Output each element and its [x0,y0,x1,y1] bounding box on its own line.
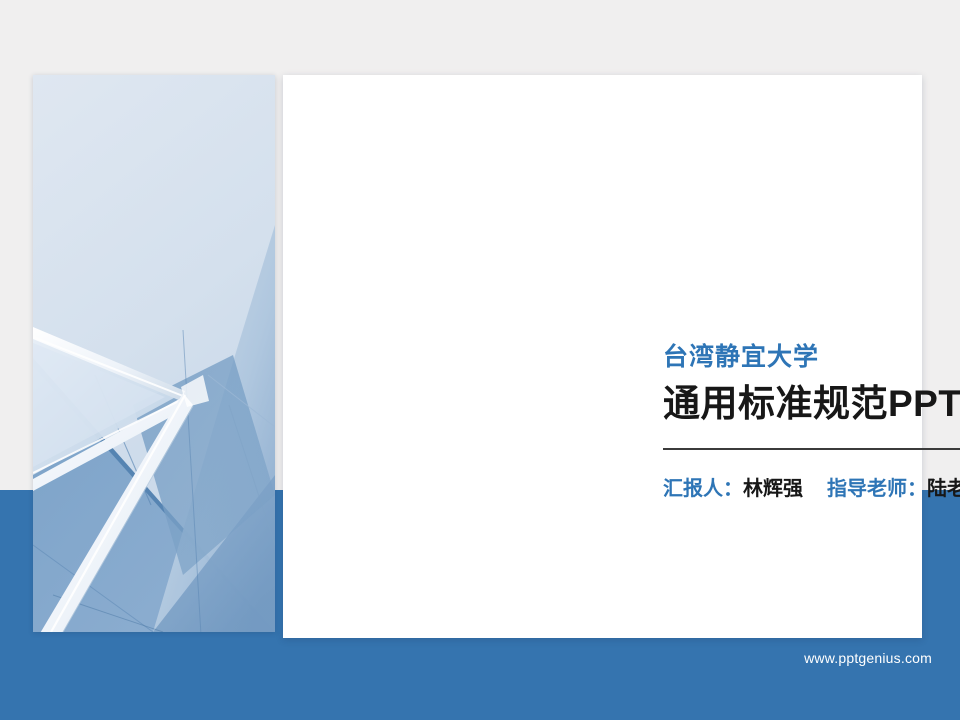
advisor-name: 陆老师 [927,478,960,500]
advisor-label: 指导老师： [827,478,927,500]
university-name-subtitle: 台湾静宜大学 [663,343,960,372]
footer-website-url: www.pptgenius.com [804,650,932,666]
byline-row: 汇报人：林辉强指导老师：陆老师 [663,477,960,501]
content-card: 靜 宜 大 學 PROVIDENCE [283,75,922,638]
title-divider-rule [663,448,960,450]
presenter-name: 林辉强 [743,478,803,500]
title-text-block: 台湾静宜大学 通用标准规范PPT模板 汇报人：林辉强指导老师：陆老师 [663,343,960,501]
presenter-label: 汇报人： [663,478,743,500]
cover-photo-panel [33,75,275,632]
architecture-ceiling-photo [33,75,275,632]
page-title: 通用标准规范PPT模板 [663,382,960,426]
presentation-title-slide: www.pptgenius.com [0,0,960,720]
